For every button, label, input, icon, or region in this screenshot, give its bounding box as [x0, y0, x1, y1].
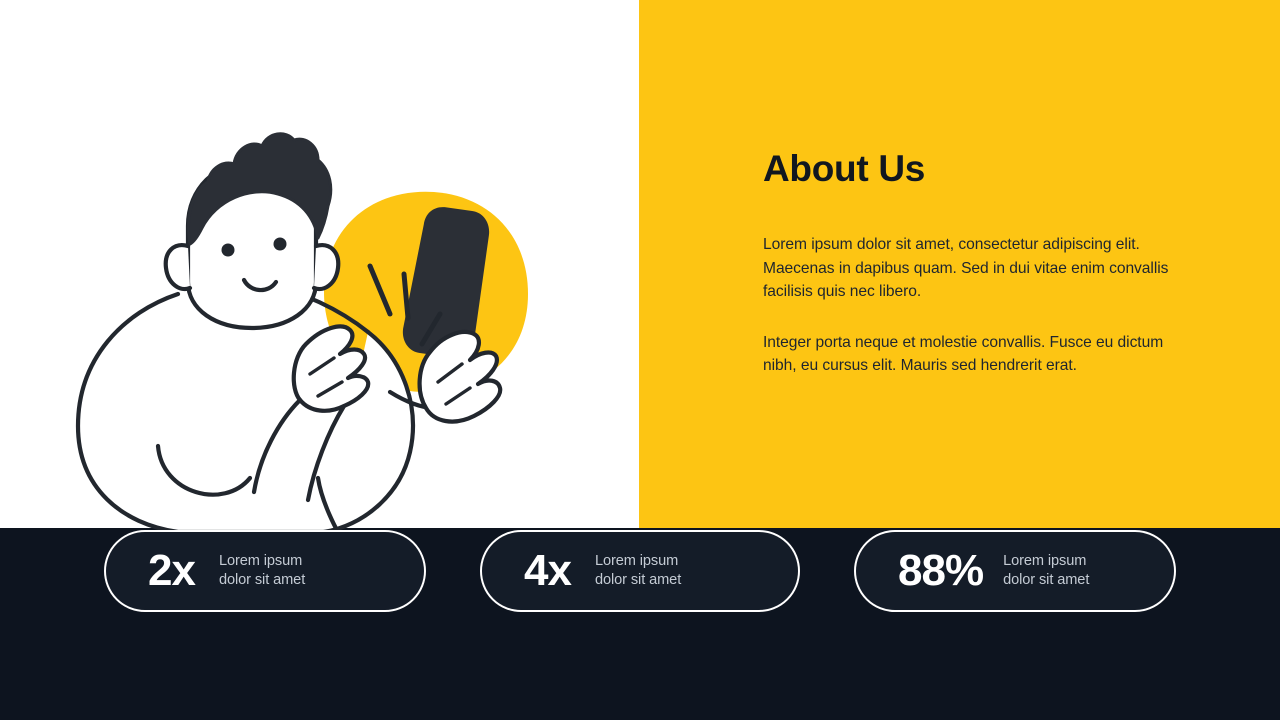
man-tapping-smartphone-illustration [38, 96, 558, 536]
stat-value-2: 4x [524, 549, 571, 593]
stats-row: 2x Lorem ipsum dolor sit amet 4x Lorem i… [0, 528, 1280, 720]
stat-caption-2: Lorem ipsum dolor sit amet [595, 552, 681, 591]
stat-caption-2-line-1: Lorem ipsum [595, 553, 678, 569]
stat-pill-1[interactable]: 2x Lorem ipsum dolor sit amet [104, 530, 426, 612]
stat-caption-1-line-2: dolor sit amet [219, 572, 305, 588]
slide-about-us: About Us Lorem ipsum dolor sit amet, con… [0, 0, 1280, 720]
stat-caption-2-line-2: dolor sit amet [595, 572, 681, 588]
page-title: About Us [763, 148, 1183, 189]
about-text-block: About Us Lorem ipsum dolor sit amet, con… [763, 148, 1183, 377]
stat-caption-1: Lorem ipsum dolor sit amet [219, 552, 305, 591]
stat-pill-2[interactable]: 4x Lorem ipsum dolor sit amet [480, 530, 800, 612]
stat-value-3: 88% [898, 549, 983, 593]
stat-pill-3[interactable]: 88% Lorem ipsum dolor sit amet [854, 530, 1176, 612]
stat-caption-3-line-1: Lorem ipsum [1003, 553, 1086, 569]
about-paragraph-1: Lorem ipsum dolor sit amet, consectetur … [763, 233, 1183, 302]
stat-caption-1-line-1: Lorem ipsum [219, 553, 302, 569]
right-eye [274, 238, 287, 251]
stat-value-1: 2x [148, 549, 195, 593]
left-eye [222, 244, 235, 257]
about-paragraph-2: Integer porta neque et molestie convalli… [763, 331, 1183, 377]
stat-caption-3: Lorem ipsum dolor sit amet [1003, 552, 1089, 591]
stat-caption-3-line-2: dolor sit amet [1003, 572, 1089, 588]
